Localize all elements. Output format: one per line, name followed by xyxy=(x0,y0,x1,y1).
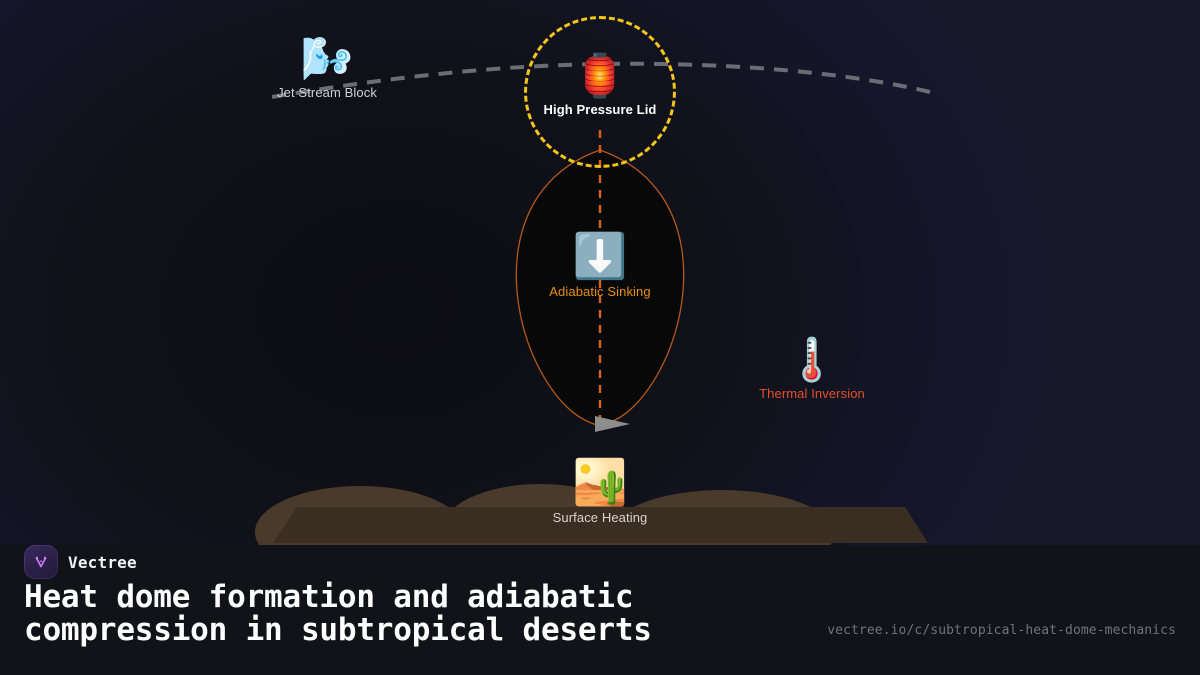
scene: 🌬️ Jet Stream Block 🏮 High Pressure Lid … xyxy=(0,0,1200,545)
source-url: vectree.io/c/subtropical-heat-dome-mecha… xyxy=(827,623,1176,638)
node-label-high-pressure-lid: High Pressure Lid xyxy=(544,102,657,117)
sinking-arrowhead xyxy=(595,416,630,432)
node-adiabatic-sinking[interactable]: ⬇️ Adiabatic Sinking xyxy=(549,235,650,299)
node-label-jet-stream-block: Jet Stream Block xyxy=(277,85,377,100)
footer-bar: Vectree Heat dome formation and adiabati… xyxy=(0,545,1200,675)
brand[interactable]: Vectree xyxy=(24,545,137,579)
thermometer-emoji-icon: 🌡️ xyxy=(786,339,838,381)
node-jet-stream-block[interactable]: 🌬️ Jet Stream Block xyxy=(277,38,377,100)
node-high-pressure-lid[interactable]: 🏮 High Pressure Lid xyxy=(544,55,657,117)
wind-face-emoji-icon: 🌬️ xyxy=(301,38,353,80)
brand-name: Vectree xyxy=(68,553,137,572)
node-thermal-inversion[interactable]: 🌡️ Thermal Inversion xyxy=(759,339,865,401)
node-label-thermal-inversion: Thermal Inversion xyxy=(759,386,865,401)
headline: Heat dome formation and adiabatic compre… xyxy=(24,581,784,647)
desert-emoji-icon: 🏜️ xyxy=(573,461,628,505)
node-label-surface-heating: Surface Heating xyxy=(553,510,648,525)
node-label-adiabatic-sinking: Adiabatic Sinking xyxy=(549,284,650,299)
vectree-v-logo-icon xyxy=(24,545,58,579)
infographic-canvas: 🌬️ Jet Stream Block 🏮 High Pressure Lid … xyxy=(0,0,1200,675)
down-arrow-emoji-icon: ⬇️ xyxy=(573,235,628,279)
red-lantern-emoji-icon: 🏮 xyxy=(574,55,626,97)
node-surface-heating[interactable]: 🏜️ Surface Heating xyxy=(553,461,648,525)
